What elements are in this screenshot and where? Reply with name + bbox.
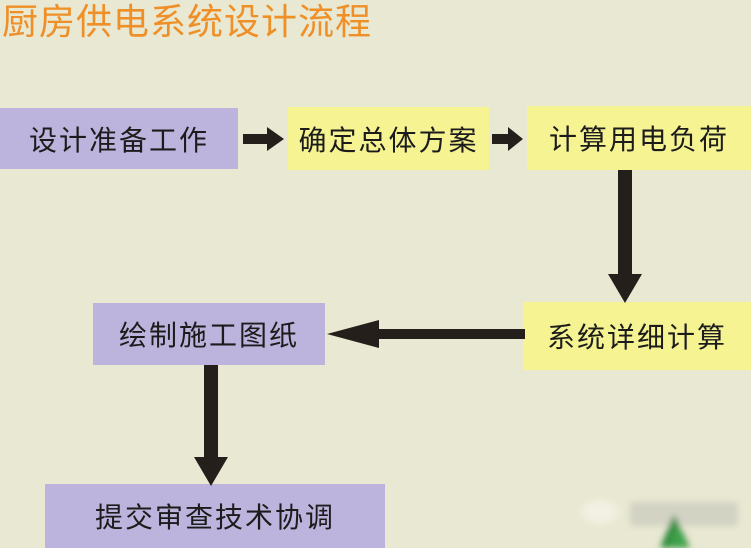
flowchart-canvas: 厨房供电系统设计流程 设计准备工作 确定总体方案 计算用电负荷 系统详细计算 绘…	[0, 0, 751, 548]
arrow-right-icon-scheme-to-load	[492, 124, 524, 154]
arrow-left-icon-detail-to-drawing	[327, 318, 525, 350]
flow-node-review-label: 提交审查技术协调	[95, 496, 335, 536]
flow-node-load-label: 计算用电负荷	[549, 118, 729, 158]
arrow-right-icon-prep-to-scheme	[243, 124, 285, 154]
arrow-down-icon-load-to-detail	[607, 170, 643, 304]
flow-node-prep[interactable]: 设计准备工作	[0, 108, 238, 169]
page-title: 厨房供电系统设计流程	[2, 0, 372, 46]
flow-node-scheme-label: 确定总体方案	[298, 119, 478, 159]
watermark-logo	[578, 492, 748, 548]
flow-node-detail-label: 系统详细计算	[547, 316, 727, 356]
flow-node-drawing[interactable]: 绘制施工图纸	[93, 303, 325, 365]
flow-node-scheme[interactable]: 确定总体方案	[288, 107, 489, 170]
arrow-down-icon-drawing-to-review	[193, 365, 229, 487]
flow-node-drawing-label: 绘制施工图纸	[119, 314, 299, 354]
flow-node-load[interactable]: 计算用电负荷	[527, 106, 751, 170]
flow-node-review[interactable]: 提交审查技术协调	[45, 484, 385, 548]
flow-node-prep-label: 设计准备工作	[29, 119, 209, 159]
flow-node-detail[interactable]: 系统详细计算	[523, 302, 751, 370]
